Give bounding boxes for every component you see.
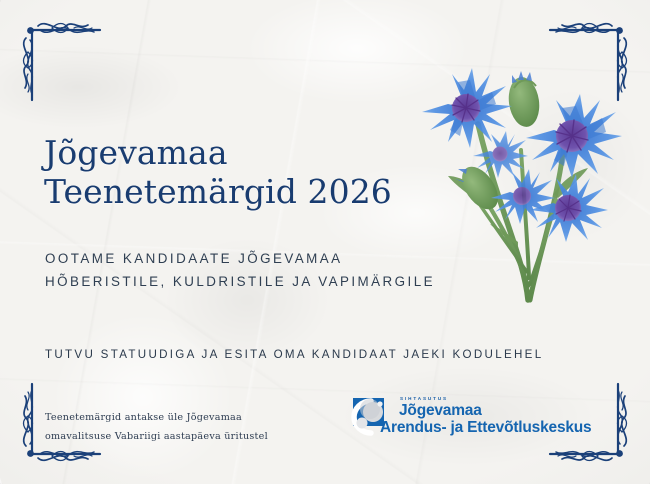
jaek-logo-text: SIHTASUTUS Jõgevamaa Arendus- ja Ettevõt…: [398, 397, 591, 436]
poster-canvas: Jõgevamaa Teenetemärgid 2026 OOTAME KAND…: [0, 0, 650, 484]
poster-title: Jõgevamaa Teenetemärgid 2026: [44, 134, 392, 211]
jaek-logo-line2: Arendus- ja Ettevõtluskeskus: [380, 420, 591, 436]
corner-ornament-top-left-icon: [8, 8, 104, 104]
jaek-logo-mark-icon: [351, 396, 391, 436]
poster-fineprint: Teenetemärgid antakse üle Jõgevamaa omav…: [45, 408, 268, 446]
poster-call-to-action: TUTVU STATUUDIGA JA ESITA OMA KANDIDAAT …: [45, 348, 543, 361]
poster-subtitle: OOTAME KANDIDAATE JÕGEVAMAA HÕBERISTILE,…: [45, 247, 435, 293]
jaek-logo-line1: Jõgevamaa: [399, 403, 591, 419]
jaek-logo[interactable]: SIHTASUTUS Jõgevamaa Arendus- ja Ettevõt…: [351, 396, 591, 436]
jaek-logo-kicker: SIHTASUTUS: [400, 397, 591, 402]
